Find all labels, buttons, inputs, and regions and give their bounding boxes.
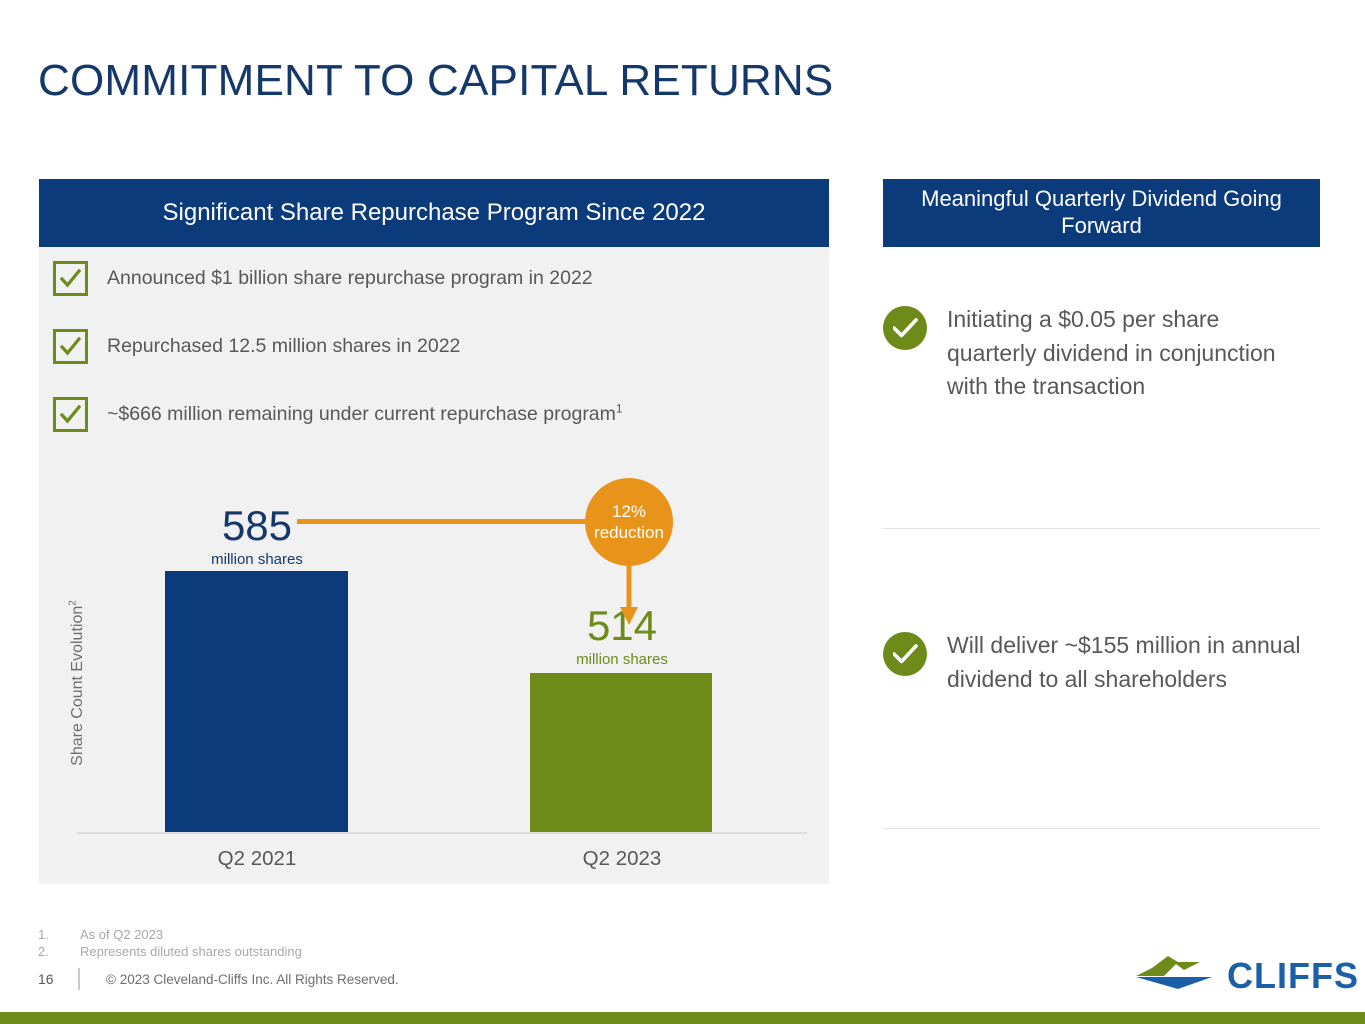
slide-footer: 16 © 2023 Cleveland-Cliffs Inc. All Righ… <box>38 968 399 990</box>
right-panel-header: Meaningful Quarterly Dividend Going Forw… <box>883 179 1320 247</box>
chart-baseline <box>77 832 807 834</box>
footnotes: 1. As of Q2 2023 2. Represents diluted s… <box>38 927 302 960</box>
bar-unit-2021: million shares <box>147 551 367 568</box>
list-item-label: ~$666 million remaining under current re… <box>107 397 623 431</box>
bar-value-2023: 514 <box>512 604 732 648</box>
footnote-row: 2. Represents diluted shares outstanding <box>38 944 302 961</box>
list-item-label: Repurchased 12.5 million shares in 2022 <box>107 329 460 363</box>
right-panel-divider-2 <box>883 828 1320 829</box>
bar-value-2021: 585 <box>147 504 367 548</box>
bar-q2-2023 <box>530 673 712 832</box>
list-item: Initiating a $0.05 per share quarterly d… <box>883 303 1320 404</box>
left-panel: Significant Share Repurchase Program Sin… <box>39 179 829 884</box>
cliffs-logo: CLIFFS <box>1134 956 1359 995</box>
footnote-text: Represents diluted shares outstanding <box>80 944 302 961</box>
reduction-callout-badge: 12% reduction <box>585 478 673 566</box>
footnote-row: 1. As of Q2 2023 <box>38 927 302 944</box>
footnote-text: As of Q2 2023 <box>80 927 163 944</box>
list-item-label: Announced $1 billion share repurchase pr… <box>107 261 593 295</box>
circle-check-icon <box>883 632 927 676</box>
checkbox-icon <box>53 329 88 364</box>
checkbox-icon <box>53 261 88 296</box>
reduction-percent: 12% <box>612 501 646 522</box>
footer-divider <box>78 968 80 990</box>
x-tick-label-q2-2023: Q2 2023 <box>512 847 732 871</box>
page-number: 16 <box>38 971 78 987</box>
list-item: Repurchased 12.5 million shares in 2022 <box>53 329 813 364</box>
footnote-marker: 1 <box>616 402 623 416</box>
right-panel: Meaningful Quarterly Dividend Going Forw… <box>883 179 1320 247</box>
callout-connector-line <box>297 519 593 524</box>
left-panel-header: Significant Share Repurchase Program Sin… <box>39 179 829 247</box>
bar-label-q2-2023: 514 million shares <box>512 604 732 668</box>
footnote-number: 2. <box>38 944 80 961</box>
bar-q2-2021 <box>165 571 348 832</box>
bar-label-q2-2021: 585 million shares <box>147 504 367 568</box>
x-tick-label-q2-2021: Q2 2021 <box>147 847 367 871</box>
repurchase-bullet-list: Announced $1 billion share repurchase pr… <box>53 261 813 465</box>
list-item: ~$666 million remaining under current re… <box>53 397 813 432</box>
checkbox-icon <box>53 397 88 432</box>
chart-y-axis-label: Share Count Evolution2 <box>69 568 87 798</box>
list-item-label: Initiating a $0.05 per share quarterly d… <box>947 303 1307 404</box>
list-item: Will deliver ~$155 million in annual div… <box>883 629 1320 696</box>
footnote-number: 1. <box>38 927 80 944</box>
page-title: COMMITMENT TO CAPITAL RETURNS <box>38 56 833 106</box>
list-item-label: Will deliver ~$155 million in annual div… <box>947 629 1307 696</box>
copyright-text: © 2023 Cleveland-Cliffs Inc. All Rights … <box>106 972 399 987</box>
list-item: Announced $1 billion share repurchase pr… <box>53 261 813 296</box>
cliffs-wordmark: CLIFFS <box>1227 958 1359 994</box>
cliffs-mountain-icon <box>1134 956 1214 995</box>
bottom-accent-strip <box>0 1012 1365 1024</box>
down-arrow-icon <box>618 565 640 632</box>
right-panel-divider-1 <box>883 528 1320 529</box>
circle-check-icon <box>883 306 927 350</box>
slide-canvas: COMMITMENT TO CAPITAL RETURNS Significan… <box>0 0 1365 1024</box>
reduction-word: reduction <box>594 522 664 543</box>
bar-unit-2023: million shares <box>512 651 732 668</box>
